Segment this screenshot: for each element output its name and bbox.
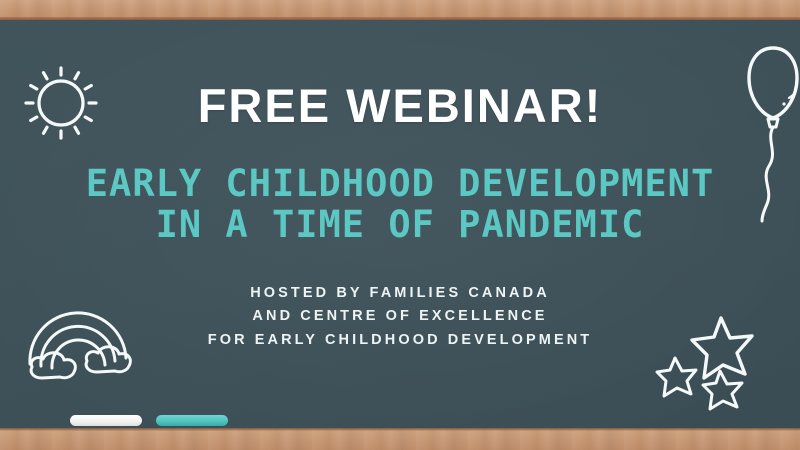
balloon-icon: [742, 42, 800, 222]
chalkboard-frame-top: [0, 0, 800, 20]
stars-icon: [648, 308, 760, 408]
chalk-stick-white: [70, 415, 142, 426]
rainbow-icon: [12, 286, 144, 382]
chalk-stick-teal: [156, 415, 228, 426]
sun-icon: [14, 56, 108, 150]
chalkboard-ledge: [0, 428, 800, 450]
webinar-poster: FREE WEBINAR! EARLY CHILDHOOD DEVELOPMEN…: [0, 0, 800, 450]
